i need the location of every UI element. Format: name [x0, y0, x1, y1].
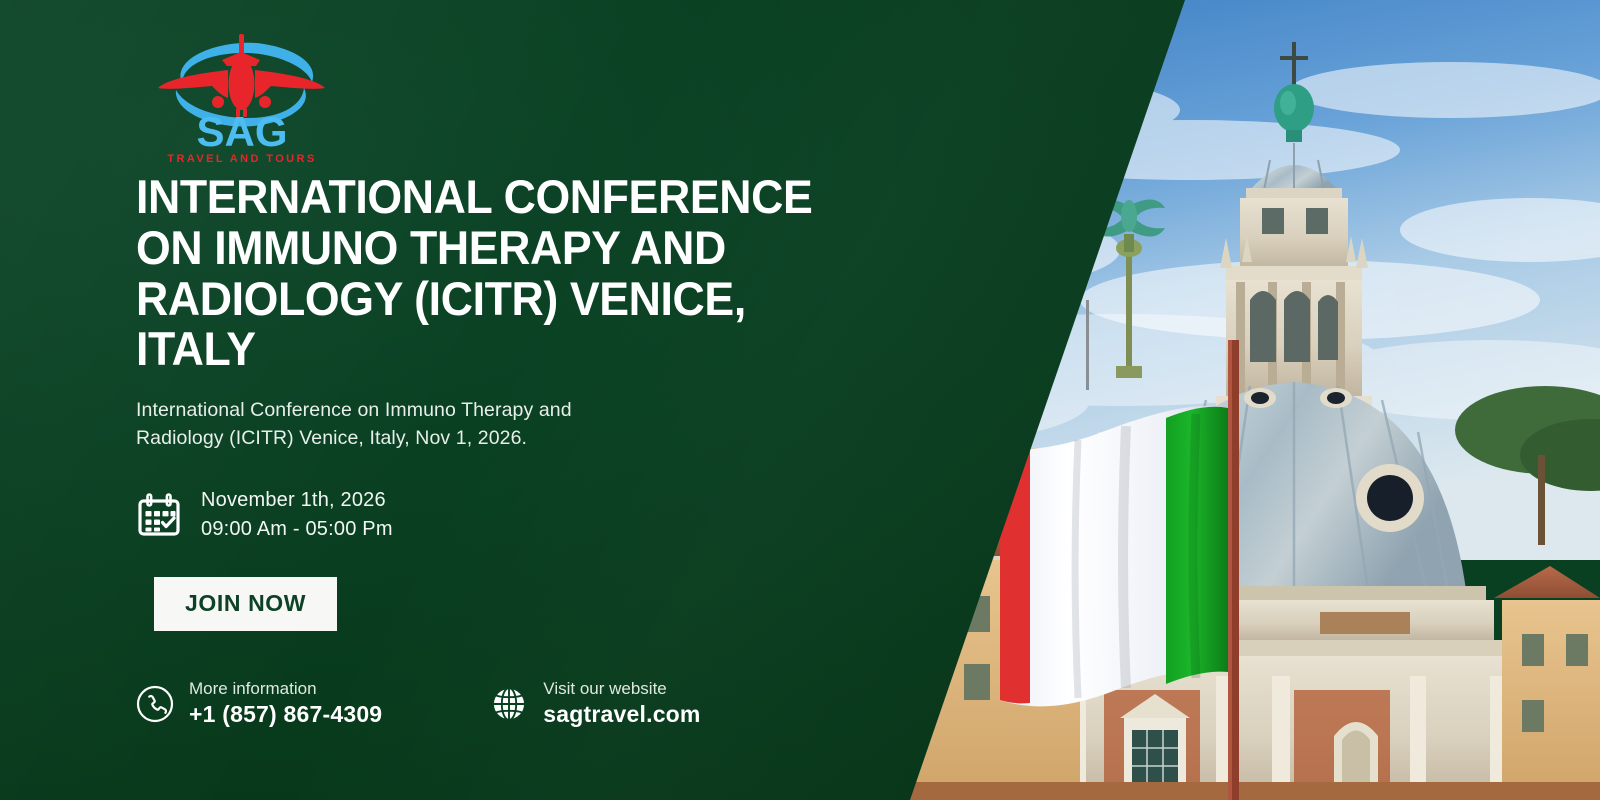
- contact-row: More information +1 (857) 867-4309: [136, 678, 900, 729]
- page-title: INTERNATIONAL CONFERENCE ON IMMUNO THERA…: [136, 172, 862, 375]
- globe-icon: [490, 685, 528, 723]
- event-banner: SAG TRAVEL AND TOURS INTERNATIONAL CONFE…: [0, 0, 1600, 800]
- calendar-check-icon: [136, 492, 182, 538]
- event-time: 09:00 Am - 05:00 Pm: [201, 515, 393, 543]
- event-datetime: November 1th, 2026 09:00 Am - 05:00 Pm: [136, 486, 900, 543]
- phone-circle-icon: [136, 685, 174, 723]
- banner-content: SAG TRAVEL AND TOURS INTERNATIONAL CONFE…: [0, 0, 900, 800]
- contact-website[interactable]: Visit our website sagtravel.com: [490, 678, 700, 729]
- logo-tagline: TRAVEL AND TOURS: [167, 153, 316, 165]
- sag-logo[interactable]: SAG TRAVEL AND TOURS: [152, 26, 332, 166]
- join-now-button[interactable]: JOIN NOW: [154, 577, 337, 631]
- contact-website-value[interactable]: sagtravel.com: [543, 701, 700, 729]
- event-subtitle: International Conference on Immuno Thera…: [136, 397, 656, 452]
- contact-phone-value[interactable]: +1 (857) 867-4309: [189, 701, 382, 729]
- contact-phone[interactable]: More information +1 (857) 867-4309: [136, 678, 382, 729]
- event-date: November 1th, 2026: [201, 486, 393, 514]
- contact-phone-label: More information: [189, 678, 382, 699]
- contact-website-label: Visit our website: [543, 678, 700, 699]
- logo-wordmark: SAG: [196, 108, 287, 155]
